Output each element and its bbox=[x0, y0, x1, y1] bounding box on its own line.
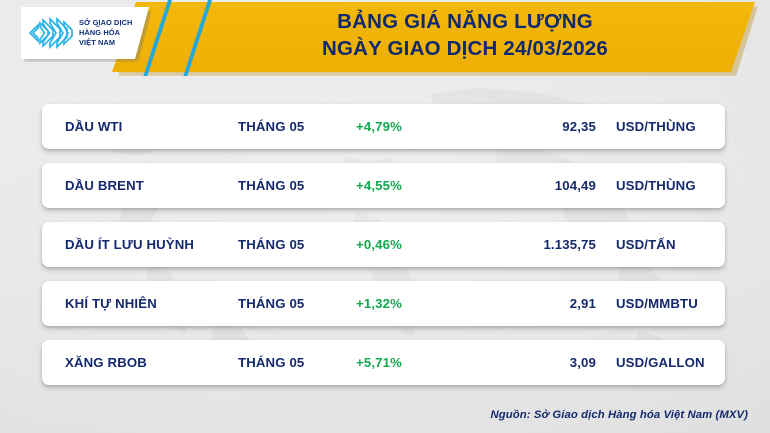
logo-line-3: VIỆT NAM bbox=[79, 38, 133, 48]
change-percent: +4,79% bbox=[356, 119, 474, 134]
page-title: BẢNG GIÁ NĂNG LƯỢNG NGÀY GIAO DỊCH 24/03… bbox=[185, 9, 745, 61]
source-attribution: Nguồn: Sở Giao dịch Hàng hóa Việt Nam (M… bbox=[491, 409, 749, 421]
price-unit: USD/GALLON bbox=[596, 355, 725, 370]
commodity-name: KHÍ TỰ NHIÊN bbox=[42, 296, 238, 311]
logo[interactable]: SỞ GIAO DỊCH HÀNG HÓA VIỆT NAM ™ bbox=[21, 7, 149, 59]
price-unit: USD/THÙNG bbox=[596, 119, 725, 134]
change-percent: +1,32% bbox=[356, 296, 474, 311]
table-row[interactable]: DẦU WTI THÁNG 05 +4,79% 92,35 USD/THÙNG bbox=[42, 104, 725, 149]
price-unit: USD/TẤN bbox=[596, 237, 725, 252]
price-value: 104,49 bbox=[474, 178, 596, 193]
contract-month: THÁNG 05 bbox=[238, 237, 356, 252]
commodity-name: DẦU ÍT LƯU HUỲNH bbox=[42, 237, 238, 252]
title-line-2: NGÀY GIAO DỊCH 24/03/2026 bbox=[185, 36, 745, 61]
logo-line-1: SỞ GIAO DỊCH bbox=[79, 18, 133, 28]
table-row[interactable]: KHÍ TỰ NHIÊN THÁNG 05 +1,32% 2,91 USD/MM… bbox=[42, 281, 725, 326]
change-percent: +0,46% bbox=[356, 237, 474, 252]
commodity-name: DẦU BRENT bbox=[42, 178, 238, 193]
change-percent: +5,71% bbox=[356, 355, 474, 370]
logo-line-2: HÀNG HÓA bbox=[79, 28, 133, 38]
commodity-name: XĂNG RBOB bbox=[42, 355, 238, 370]
table-row[interactable]: DẦU ÍT LƯU HUỲNH THÁNG 05 +0,46% 1.135,7… bbox=[42, 222, 725, 267]
price-unit: USD/MMBTU bbox=[596, 296, 725, 311]
price-value: 1.135,75 bbox=[474, 237, 596, 252]
price-board-page: SỞ GIAO DỊCH HÀNG HÓA VIỆT NAM ™ BẢNG GI… bbox=[0, 0, 770, 433]
title-line-1: BẢNG GIÁ NĂNG LƯỢNG bbox=[185, 9, 745, 34]
table-row[interactable]: DẦU BRENT THÁNG 05 +4,55% 104,49 USD/THÙ… bbox=[42, 163, 725, 208]
contract-month: THÁNG 05 bbox=[238, 296, 356, 311]
price-unit: USD/THÙNG bbox=[596, 178, 725, 193]
price-value: 3,09 bbox=[474, 355, 596, 370]
trademark-mark: ™ bbox=[95, 25, 100, 31]
contract-month: THÁNG 05 bbox=[238, 355, 356, 370]
contract-month: THÁNG 05 bbox=[238, 178, 356, 193]
logo-wordmark: SỞ GIAO DỊCH HÀNG HÓA VIỆT NAM bbox=[79, 18, 133, 47]
contract-month: THÁNG 05 bbox=[238, 119, 356, 134]
table-row[interactable]: XĂNG RBOB THÁNG 05 +5,71% 3,09 USD/GALLO… bbox=[42, 340, 725, 385]
commodity-name: DẦU WTI bbox=[42, 119, 238, 134]
price-value: 2,91 bbox=[474, 296, 596, 311]
change-percent: +4,55% bbox=[356, 178, 474, 193]
price-value: 92,35 bbox=[474, 119, 596, 134]
maze-chevron-logo-icon bbox=[28, 17, 74, 49]
header: SỞ GIAO DỊCH HÀNG HÓA VIỆT NAM ™ BẢNG GI… bbox=[0, 0, 770, 78]
